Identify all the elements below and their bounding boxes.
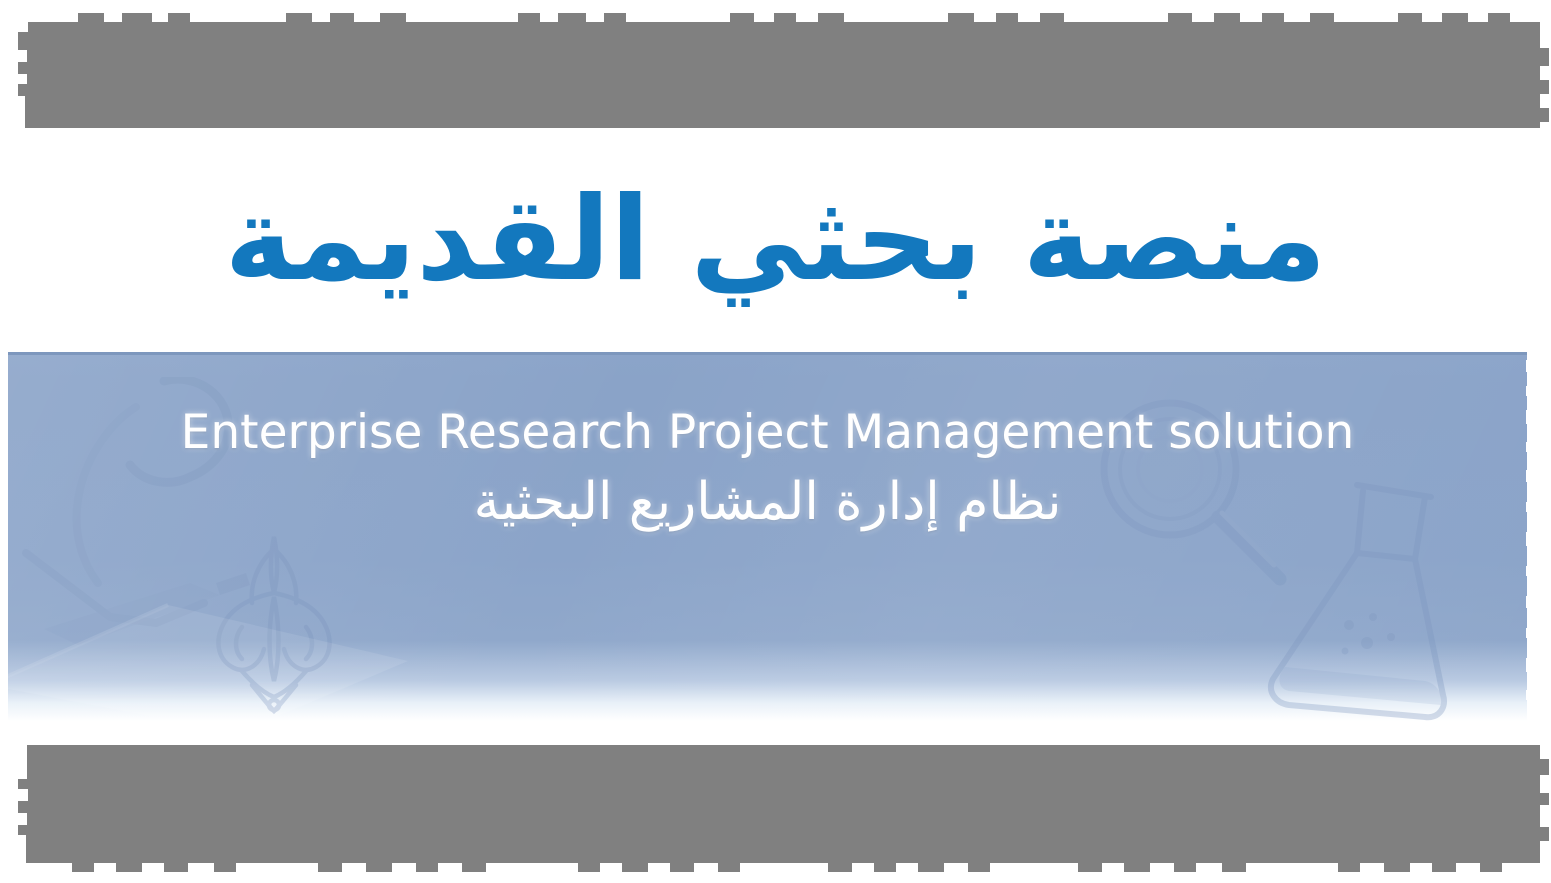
banner-arabic-tagline: نظام إدارة المشاريع البحثية	[474, 473, 1062, 533]
bar-bite	[18, 789, 28, 801]
bottom-bar-right-nicks	[1539, 745, 1549, 863]
bar-bite	[18, 74, 27, 84]
top-redaction-bar	[18, 22, 1540, 128]
page-canvas: منصة بحثي القديمة	[0, 0, 1551, 883]
top-bar-right-nicks	[1539, 22, 1549, 128]
bottom-redaction-bar	[18, 745, 1540, 863]
banner-text-block: Enterprise Research Project Management s…	[8, 355, 1527, 721]
page-title: منصة بحثي القديمة	[225, 173, 1327, 306]
banner-ragged-right-edge	[1526, 352, 1535, 718]
top-bar-ragged-edge	[18, 13, 1540, 23]
banner-english-tagline: Enterprise Research Project Management s…	[181, 407, 1355, 459]
platform-banner: Enterprise Research Project Management s…	[8, 352, 1527, 721]
bar-bite	[18, 835, 26, 863]
bottom-bar-ragged-edge	[18, 862, 1540, 872]
bar-bite	[18, 813, 27, 825]
page-title-region: منصة بحثي القديمة	[0, 140, 1551, 340]
bar-bite	[18, 745, 27, 779]
bar-bite	[18, 50, 27, 62]
bar-bite	[18, 96, 25, 128]
bar-bite	[18, 22, 28, 32]
